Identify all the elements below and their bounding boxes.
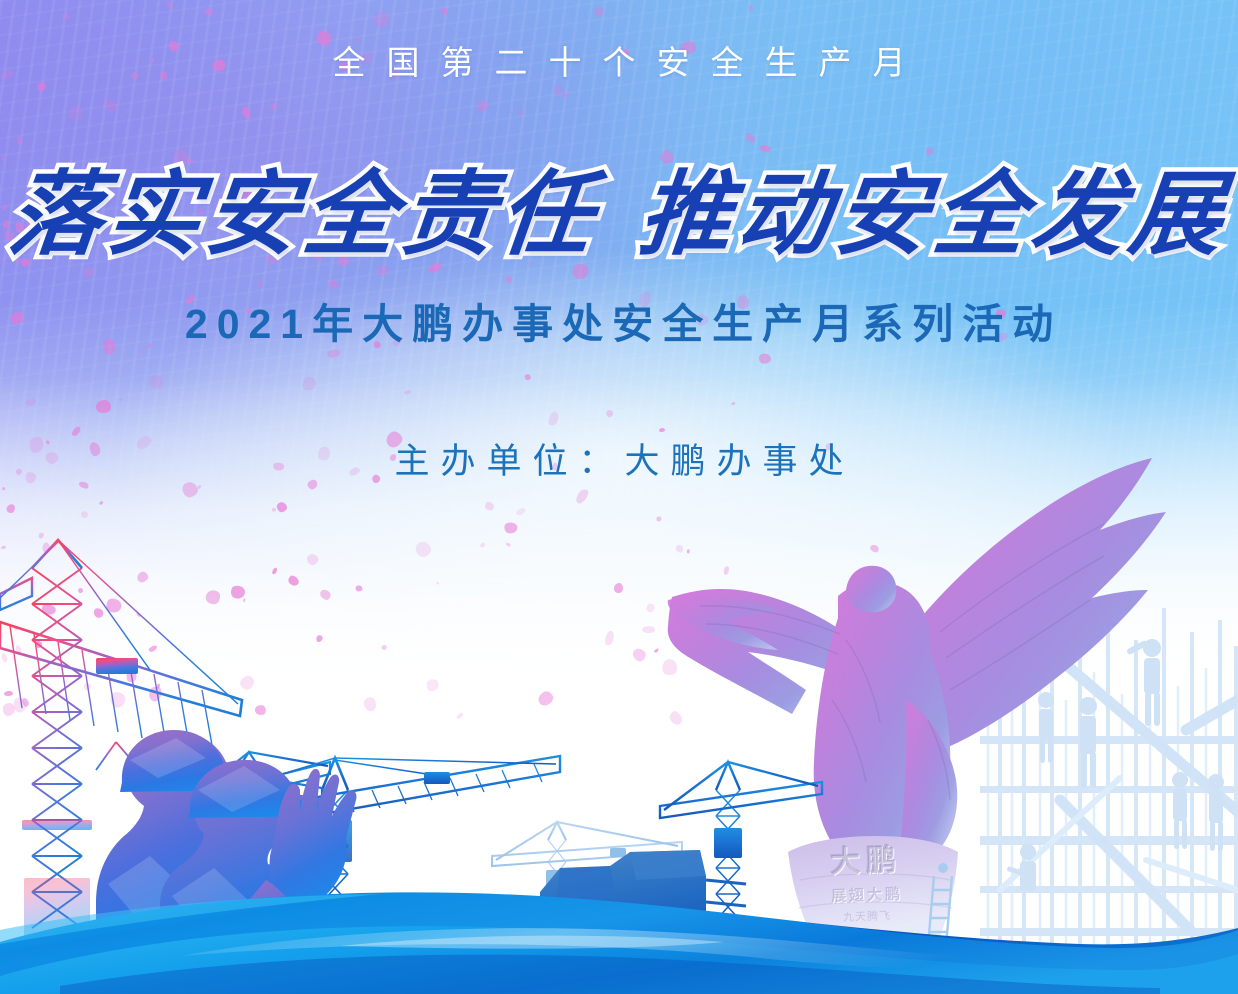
poster-subtitle: 2021年大鹏办事处安全生产月系列活动 bbox=[0, 304, 1238, 345]
construction-scene bbox=[0, 0, 1238, 994]
poster-kicker-line: 全国第二十个安全生产月 bbox=[0, 46, 1238, 79]
poster-main-slogan: 落实安全责任推动安全发展 bbox=[0, 160, 1238, 269]
slogan-phrase-right: 推动安全发展 bbox=[634, 160, 1233, 268]
poster-canvas: 大鹏 展翅大鹏 九天腾飞 全国第二十个安全生产月 落实安全责任推动安全发展 20… bbox=[0, 0, 1238, 994]
poster-organizer-line: 主办单位：大鹏办事处 bbox=[0, 444, 1238, 479]
statue-engraved-name: 大鹏 bbox=[805, 834, 926, 882]
slogan-phrase-left: 落实安全责任 bbox=[4, 160, 603, 268]
